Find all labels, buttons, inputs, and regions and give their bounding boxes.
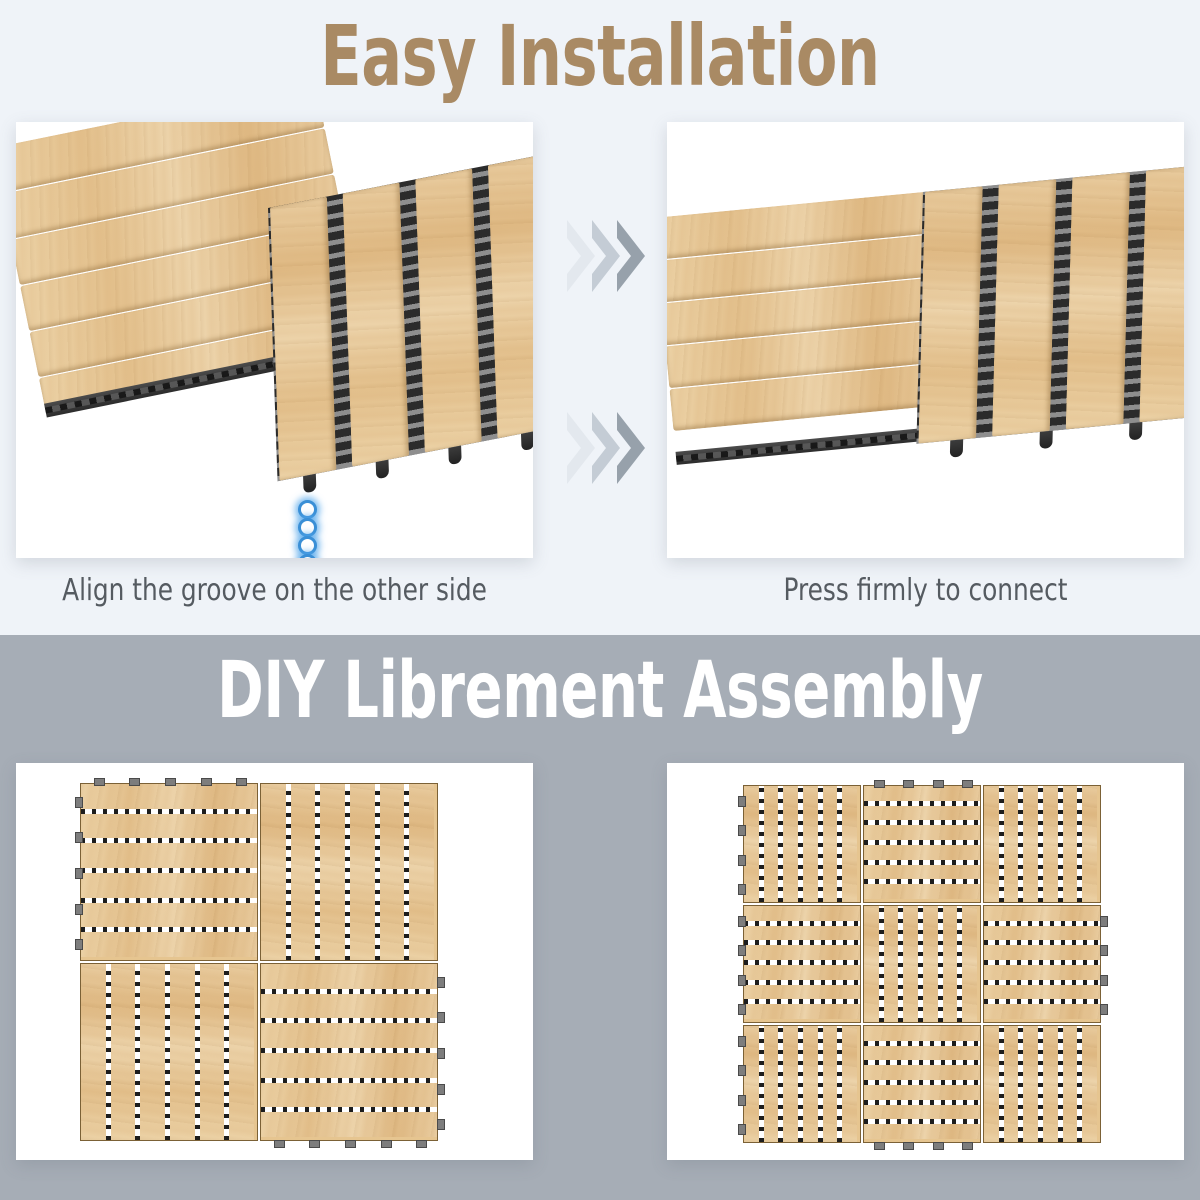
tile-gap bbox=[759, 786, 764, 902]
plank bbox=[744, 985, 860, 1000]
tile-connector-clip bbox=[236, 778, 247, 786]
plank bbox=[744, 965, 860, 980]
tile-gap bbox=[759, 1026, 764, 1142]
panel-align-groove bbox=[16, 122, 533, 558]
plank bbox=[864, 1026, 980, 1041]
plank bbox=[842, 1026, 857, 1142]
infographic-page: Easy Installation bbox=[0, 0, 1200, 1200]
plank bbox=[1063, 1026, 1078, 1142]
tile-connector-clip bbox=[962, 780, 973, 788]
panel-checkerboard-layout bbox=[16, 763, 533, 1160]
tile-gap bbox=[1058, 1026, 1063, 1142]
plank bbox=[415, 168, 481, 452]
tile-gap bbox=[957, 906, 962, 1022]
tile-gap bbox=[938, 906, 943, 1022]
tile-connector-clip bbox=[1100, 945, 1108, 956]
tile-connector-clip bbox=[738, 945, 746, 956]
plank bbox=[320, 784, 345, 960]
tile-gap bbox=[984, 940, 1100, 945]
plank bbox=[864, 1105, 980, 1120]
tile-gap bbox=[864, 1119, 980, 1124]
tile-connector-clip bbox=[75, 868, 83, 879]
chevron-right-triple-icon bbox=[565, 410, 653, 486]
tile-gap bbox=[261, 989, 437, 994]
tile-gap bbox=[345, 784, 350, 960]
tile-foot bbox=[521, 431, 533, 451]
tile-connector-clip bbox=[738, 1036, 746, 1047]
tile-gap bbox=[999, 786, 1004, 902]
plank bbox=[864, 906, 879, 1022]
tile-gap bbox=[864, 1100, 980, 1105]
tile-connector-clip bbox=[738, 975, 746, 986]
tile-gap bbox=[1058, 786, 1063, 902]
plank bbox=[864, 865, 980, 880]
tile-connector-clip bbox=[962, 1142, 973, 1150]
tile-connector-clip bbox=[75, 832, 83, 843]
tile-gap bbox=[81, 809, 257, 814]
align-illustration bbox=[16, 122, 533, 558]
plank bbox=[864, 1065, 980, 1080]
panel-pinwheel-layout bbox=[667, 763, 1184, 1160]
tile-connector-clip bbox=[274, 1140, 285, 1148]
tile-connector-clip bbox=[437, 1012, 445, 1023]
tile-connector-clip bbox=[738, 1004, 746, 1015]
tile-gap bbox=[864, 1080, 980, 1085]
plank bbox=[984, 945, 1100, 960]
down-arrow-dotted-icon bbox=[292, 500, 320, 558]
plank bbox=[1139, 165, 1184, 422]
plank bbox=[864, 1085, 980, 1100]
tile-connector-clip bbox=[437, 977, 445, 988]
tile-gap bbox=[984, 980, 1100, 985]
tile-gap bbox=[224, 964, 229, 1140]
tile-connector-clip bbox=[933, 780, 944, 788]
chevron-right-triple-icon bbox=[565, 218, 653, 294]
tile-gap bbox=[1038, 1026, 1043, 1142]
tile-connector-clip bbox=[738, 1124, 746, 1135]
plank bbox=[291, 784, 316, 960]
plank bbox=[903, 906, 918, 1022]
plank bbox=[918, 186, 982, 443]
tile-foot bbox=[950, 439, 963, 457]
plank bbox=[984, 786, 999, 902]
plank bbox=[1023, 786, 1038, 902]
plank bbox=[984, 926, 1100, 941]
plank bbox=[744, 926, 860, 941]
deck-tile bbox=[260, 783, 438, 961]
plank bbox=[81, 903, 257, 928]
plank bbox=[744, 1026, 759, 1142]
plank bbox=[803, 1026, 818, 1142]
tile-connector-clip bbox=[345, 1140, 356, 1148]
deck-tile bbox=[743, 1025, 861, 1143]
plank bbox=[884, 906, 899, 1022]
tile-gap bbox=[984, 960, 1100, 965]
tile-gap bbox=[879, 906, 884, 1022]
tile-connector-clip bbox=[874, 1142, 885, 1150]
plank bbox=[1063, 786, 1078, 902]
plank bbox=[764, 786, 779, 902]
tile-connector-clip bbox=[165, 778, 176, 786]
tile-gap bbox=[286, 784, 291, 960]
page-title-easy-installation: Easy Installation bbox=[120, 8, 1080, 104]
tile-connector-clip bbox=[201, 778, 212, 786]
tile-gap bbox=[81, 838, 257, 843]
tile-connector-clip bbox=[75, 797, 83, 808]
plank bbox=[81, 932, 257, 957]
tile-connector-clip bbox=[75, 939, 83, 950]
tile-gap bbox=[744, 960, 860, 965]
plank bbox=[842, 786, 857, 902]
plank bbox=[261, 1023, 437, 1048]
tile-gap bbox=[261, 1048, 437, 1053]
plank bbox=[343, 182, 409, 466]
page-title-diy-assembly: DIY Librement Assembly bbox=[120, 645, 1080, 737]
plank bbox=[984, 906, 1100, 921]
plank bbox=[380, 784, 405, 960]
tile-connector-clip bbox=[416, 1140, 427, 1148]
tile-gap bbox=[864, 879, 980, 884]
caption-press-connect: Press firmly to connect bbox=[688, 568, 1164, 614]
tile-foot bbox=[1129, 422, 1142, 440]
tile-connector-clip bbox=[903, 1142, 914, 1150]
plank bbox=[81, 814, 257, 839]
caption-align-groove: Align the groove on the other side bbox=[37, 568, 513, 614]
plank bbox=[864, 884, 980, 899]
tile-gap bbox=[918, 906, 923, 1022]
deck-tile bbox=[743, 905, 861, 1023]
tile-gap bbox=[999, 1026, 1004, 1142]
plank bbox=[261, 1083, 437, 1108]
tile-connector-clip bbox=[738, 1095, 746, 1106]
plank bbox=[261, 784, 286, 960]
tile-gap bbox=[81, 927, 257, 932]
plank bbox=[984, 1004, 1100, 1019]
plank bbox=[984, 985, 1100, 1000]
tile-gap bbox=[984, 999, 1100, 1004]
tile-connector-clip bbox=[1100, 975, 1108, 986]
tile-connector-clip bbox=[1100, 916, 1108, 927]
tile-gap bbox=[818, 786, 823, 902]
plank bbox=[864, 1124, 980, 1139]
plank bbox=[1082, 1026, 1097, 1142]
plank bbox=[783, 1026, 798, 1142]
deck-tile bbox=[863, 785, 981, 903]
tile-gap bbox=[864, 860, 980, 865]
plank bbox=[1066, 172, 1130, 429]
tile-gap bbox=[261, 1107, 437, 1112]
tile-gap bbox=[404, 784, 409, 960]
panel-press-connect bbox=[667, 122, 1184, 558]
plank bbox=[111, 964, 136, 1140]
tile-gap bbox=[261, 1018, 437, 1023]
tile-gap bbox=[744, 921, 860, 926]
tile-gap bbox=[261, 1078, 437, 1083]
plank bbox=[992, 179, 1056, 436]
plank bbox=[744, 945, 860, 960]
plank bbox=[864, 1046, 980, 1061]
tile-gap bbox=[1018, 786, 1023, 902]
tile-connected-left bbox=[667, 192, 950, 453]
plank bbox=[864, 786, 980, 801]
tile-gap bbox=[898, 906, 903, 1022]
plank bbox=[81, 873, 257, 898]
plank bbox=[744, 786, 759, 902]
tile-connector-clip bbox=[933, 1142, 944, 1150]
plank bbox=[1004, 1026, 1019, 1142]
chevron-right-icon bbox=[615, 410, 649, 486]
tile-gap bbox=[375, 784, 380, 960]
tile-gap bbox=[864, 1041, 980, 1046]
tile-connector-clip bbox=[903, 780, 914, 788]
deck-tile bbox=[983, 1025, 1101, 1143]
deck-tile bbox=[80, 783, 258, 961]
plank bbox=[864, 845, 980, 860]
tile-connector-clip bbox=[75, 904, 83, 915]
tile-connector-clip bbox=[738, 825, 746, 836]
tile-gap bbox=[744, 940, 860, 945]
tile-gap bbox=[837, 1026, 842, 1142]
tile-gap bbox=[1018, 1026, 1023, 1142]
plank bbox=[943, 906, 958, 1022]
press-illustration bbox=[667, 122, 1184, 558]
tile-connector-clip bbox=[437, 1084, 445, 1095]
tile-gap bbox=[798, 1026, 803, 1142]
plank bbox=[984, 965, 1100, 980]
tile-gap bbox=[315, 784, 320, 960]
tile-connector-clip bbox=[437, 1119, 445, 1130]
tile-connector-clip bbox=[874, 780, 885, 788]
plank bbox=[140, 964, 165, 1140]
plank bbox=[81, 843, 257, 868]
plank bbox=[864, 806, 980, 821]
tile-connector-clip bbox=[738, 884, 746, 895]
tile-gap bbox=[798, 786, 803, 902]
tile-connector-clip bbox=[738, 855, 746, 866]
plank bbox=[229, 964, 254, 1140]
tile-gap bbox=[984, 921, 1100, 926]
tile-connector-clip bbox=[129, 778, 140, 786]
tile-gap bbox=[864, 1060, 980, 1065]
tile-gap bbox=[864, 820, 980, 825]
plank bbox=[864, 825, 980, 840]
tile-gap bbox=[864, 801, 980, 806]
plank bbox=[984, 1026, 999, 1142]
plank bbox=[81, 784, 257, 809]
tile-connector-clip bbox=[738, 796, 746, 807]
tile-gap bbox=[864, 840, 980, 845]
tile-gap bbox=[744, 999, 860, 1004]
tile-foot bbox=[376, 460, 389, 480]
plank bbox=[1023, 1026, 1038, 1142]
plank bbox=[81, 964, 106, 1140]
plank bbox=[200, 964, 225, 1140]
plank bbox=[1004, 786, 1019, 902]
tile-foot bbox=[448, 446, 461, 466]
plank bbox=[270, 197, 336, 481]
plank bbox=[764, 1026, 779, 1142]
tile-foot bbox=[1039, 431, 1052, 449]
plank bbox=[261, 964, 437, 989]
tile-connector-clip bbox=[738, 916, 746, 927]
plank bbox=[962, 906, 977, 1022]
tile-gap bbox=[778, 786, 783, 902]
tile-connector-clip bbox=[437, 1048, 445, 1059]
plank bbox=[409, 784, 434, 960]
tile-gap bbox=[818, 1026, 823, 1142]
tile-gap bbox=[1077, 786, 1082, 902]
tile-connector-clip bbox=[309, 1140, 320, 1148]
chevron-right-icon bbox=[615, 218, 649, 294]
tile-gap bbox=[837, 786, 842, 902]
tile-gap bbox=[1038, 786, 1043, 902]
plank bbox=[170, 964, 195, 1140]
plank bbox=[923, 906, 938, 1022]
plank bbox=[803, 786, 818, 902]
tile-gap bbox=[778, 1026, 783, 1142]
tile-flat bbox=[268, 151, 533, 481]
plank bbox=[261, 994, 437, 1019]
tile-gap bbox=[81, 868, 257, 873]
tile-foot bbox=[303, 474, 316, 494]
tile-connected-right bbox=[916, 163, 1184, 444]
deck-tile bbox=[260, 963, 438, 1141]
deck-tile bbox=[983, 905, 1101, 1023]
deck-tile bbox=[743, 785, 861, 903]
plank bbox=[261, 1112, 437, 1137]
plank bbox=[823, 1026, 838, 1142]
pinwheel-diagram bbox=[743, 785, 1113, 1135]
tile-gap bbox=[106, 964, 111, 1140]
tile-connector-clip bbox=[94, 778, 105, 786]
tile-gap bbox=[165, 964, 170, 1140]
tile-gap bbox=[744, 980, 860, 985]
plank bbox=[823, 786, 838, 902]
checkerboard-diagram bbox=[80, 783, 460, 1143]
plank bbox=[744, 1004, 860, 1019]
deck-tile bbox=[863, 1025, 981, 1143]
tile-connector-clip bbox=[738, 1065, 746, 1076]
plank bbox=[1082, 786, 1097, 902]
plank bbox=[1043, 1026, 1058, 1142]
tile-connector-clip bbox=[381, 1140, 392, 1148]
plank bbox=[1043, 786, 1058, 902]
tile-gap bbox=[195, 964, 200, 1140]
tile-connector-clip bbox=[1100, 1004, 1108, 1015]
deck-tile bbox=[80, 963, 258, 1141]
plank bbox=[744, 906, 860, 921]
tile-gap bbox=[81, 898, 257, 903]
plank bbox=[350, 784, 375, 960]
plank bbox=[783, 786, 798, 902]
deck-tile bbox=[863, 905, 981, 1023]
plank bbox=[261, 1053, 437, 1078]
tile-gap bbox=[135, 964, 140, 1140]
deck-tile bbox=[983, 785, 1101, 903]
tile-gap bbox=[1077, 1026, 1082, 1142]
